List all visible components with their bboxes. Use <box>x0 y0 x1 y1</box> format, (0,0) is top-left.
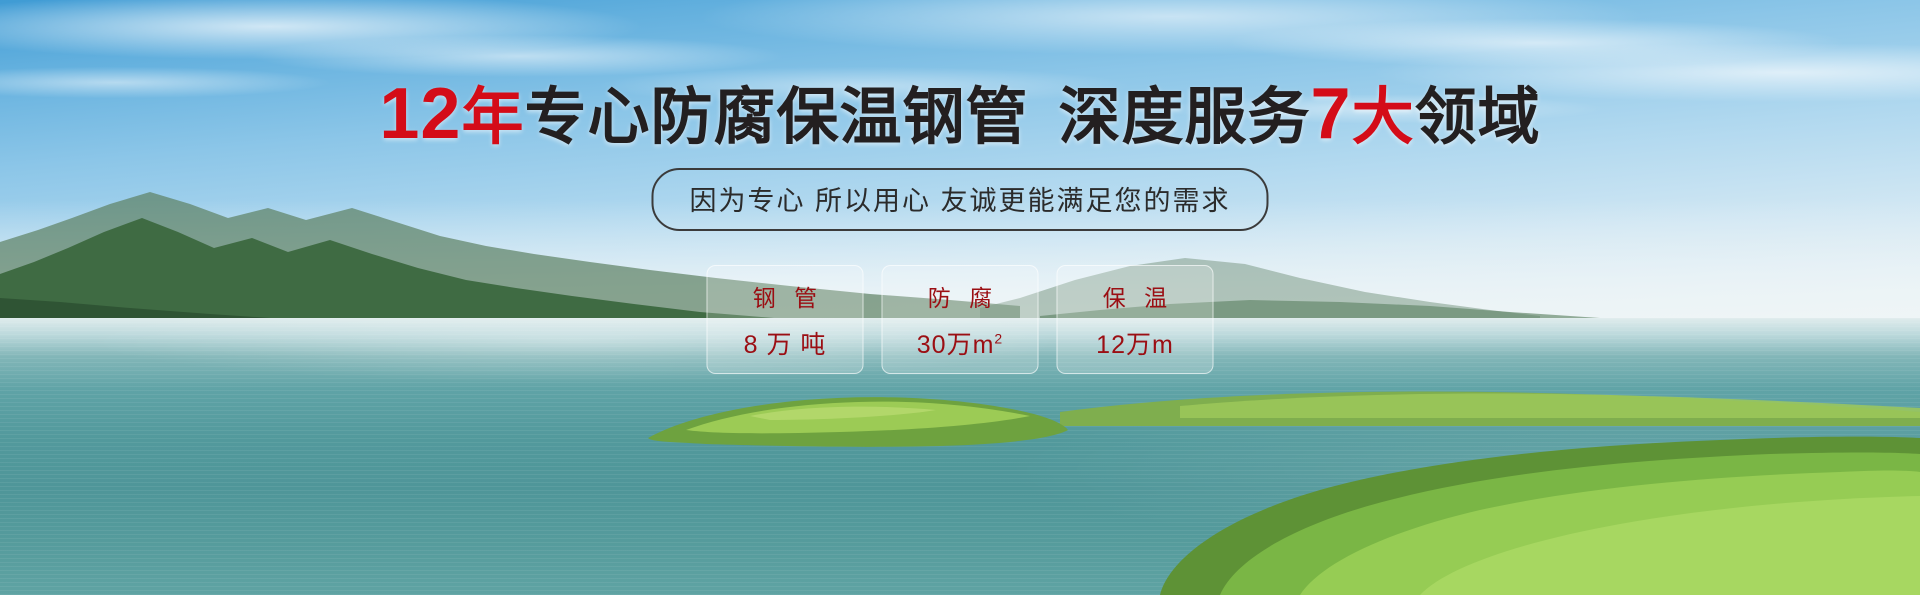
stat-card-value: 30万m2 <box>917 325 1003 361</box>
stat-card-group: 钢 管 8 万 吨 防 腐 30万m2 保 温 12万m <box>707 265 1214 374</box>
headline-main-text: 专心防腐保温钢管 <box>525 83 1029 152</box>
headline-fields-number: 7 <box>1311 74 1352 154</box>
stat-card-anticorrosion: 防 腐 30万m2 <box>882 265 1039 374</box>
headline-fields-tail: 领域 <box>1415 83 1541 152</box>
stat-card-steel-pipe: 钢 管 8 万 吨 <box>707 265 864 374</box>
stat-card-title: 保 温 <box>1097 279 1173 313</box>
stat-card-value: 12万m <box>1096 325 1174 361</box>
headline-fields-unit: 大 <box>1352 83 1415 152</box>
slogan-pill: 因为专心 所以用心 友诚更能满足您的需求 <box>651 168 1268 231</box>
stat-card-value-text: 8 万 吨 <box>744 331 827 359</box>
headline-years-number: 12 <box>379 74 461 154</box>
grass-island <box>640 386 1070 455</box>
grass-bank-foreground <box>1020 406 1920 595</box>
stat-card-title: 钢 管 <box>747 279 823 313</box>
stat-card-value-text: 30万m <box>917 331 995 359</box>
stat-card-insulation: 保 温 12万m <box>1057 265 1214 374</box>
headline-years-unit: 年 <box>461 83 524 152</box>
hero-banner: 12年专心防腐保温钢管深度服务7大领域 因为专心 所以用心 友诚更能满足您的需求… <box>0 0 1920 595</box>
stat-card-value-superscript: 2 <box>994 330 1003 346</box>
headline-service-text: 深度服务 <box>1059 83 1311 152</box>
stat-card-value-text: 12万m <box>1096 331 1174 359</box>
stat-card-value: 8 万 吨 <box>744 325 827 361</box>
headline: 12年专心防腐保温钢管深度服务7大领域 <box>0 78 1920 150</box>
stat-card-title: 防 腐 <box>922 279 998 313</box>
